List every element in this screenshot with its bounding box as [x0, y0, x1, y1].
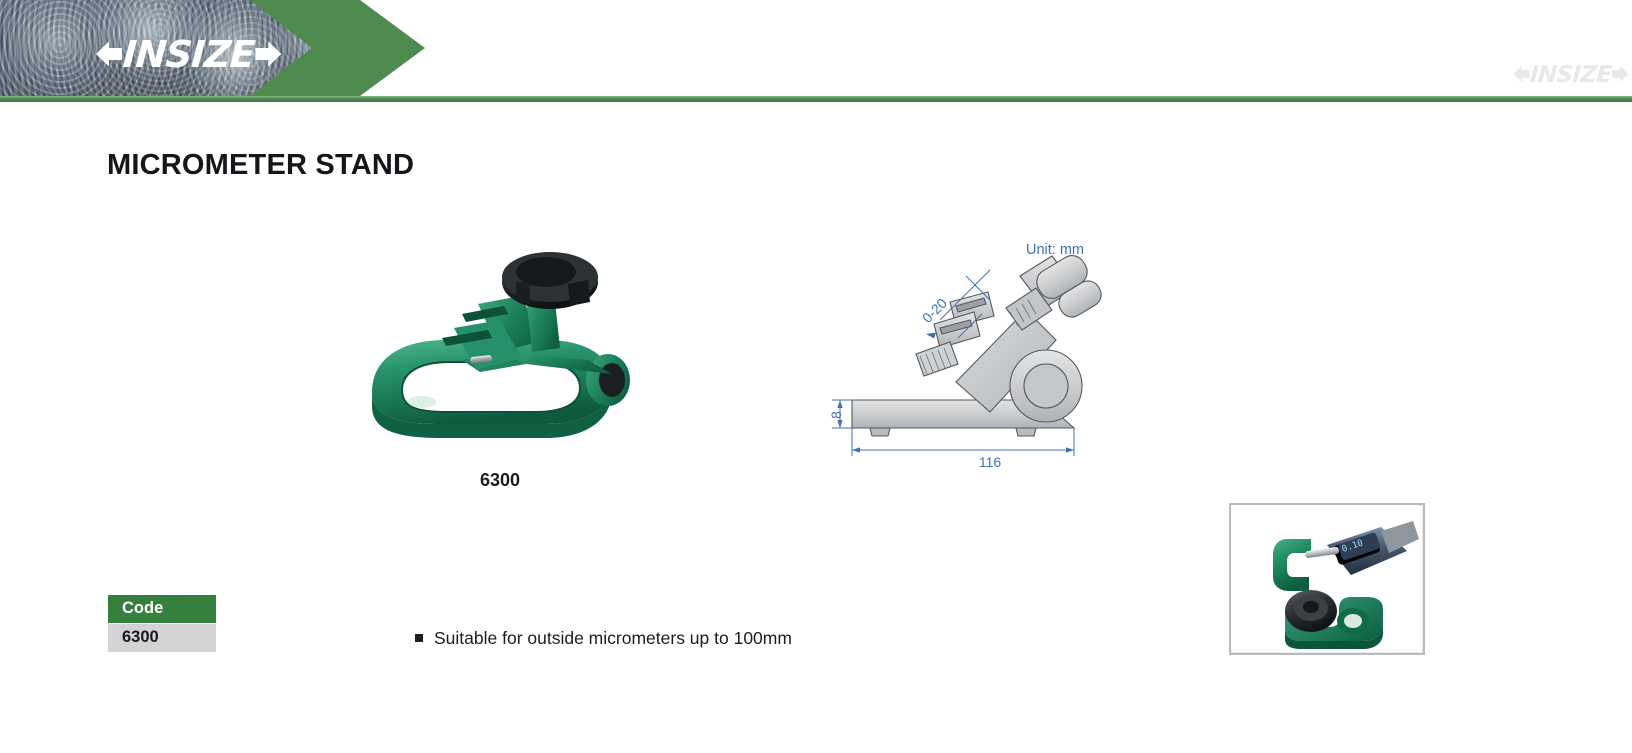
- square-bullet-icon: [415, 634, 423, 642]
- page-header: INSIZE INSIZE: [0, 0, 1632, 103]
- dimension-base-length: 116: [979, 454, 1002, 470]
- application-photo-svg: 0.10: [1231, 505, 1419, 649]
- drawing-svg: 116 8 0-20: [830, 232, 1120, 472]
- watermark-right-arrow-icon: [1612, 65, 1628, 84]
- spec-table-header-row: Code: [108, 595, 217, 624]
- spec-table-header-code: Code: [108, 595, 217, 624]
- logo-left-arrow-icon: [96, 39, 122, 69]
- insize-logo: INSIZE: [96, 32, 281, 76]
- spec-table: Code 6300: [107, 594, 217, 653]
- spec-cell-code: 6300: [108, 624, 217, 653]
- watermark-left-arrow-icon: [1513, 65, 1529, 84]
- unit-label: Unit: mm: [1026, 242, 1084, 258]
- product-caption: 6300: [350, 470, 650, 491]
- application-photo: 0.10: [1229, 503, 1425, 655]
- product-photo-6300: [350, 252, 650, 462]
- product-figure: 6300: [350, 252, 650, 497]
- list-item: Suitable for outside micrometers up to 1…: [415, 628, 792, 649]
- watermark-wordmark: INSIZE: [1528, 63, 1612, 86]
- features-list: Suitable for outside micrometers up to 1…: [415, 628, 792, 649]
- insize-logo-watermark: INSIZE: [1513, 60, 1628, 87]
- page-title: MICROMETER STAND: [107, 149, 414, 182]
- technical-drawing: Unit: mm: [830, 232, 1120, 472]
- table-row: 6300: [108, 624, 217, 653]
- logo-wordmark: INSIZE: [121, 36, 257, 73]
- header-green-rule: [0, 96, 1632, 102]
- logo-right-arrow-icon: [255, 39, 281, 69]
- dimension-base-height: 8: [830, 411, 844, 419]
- feature-text: Suitable for outside micrometers up to 1…: [434, 628, 792, 649]
